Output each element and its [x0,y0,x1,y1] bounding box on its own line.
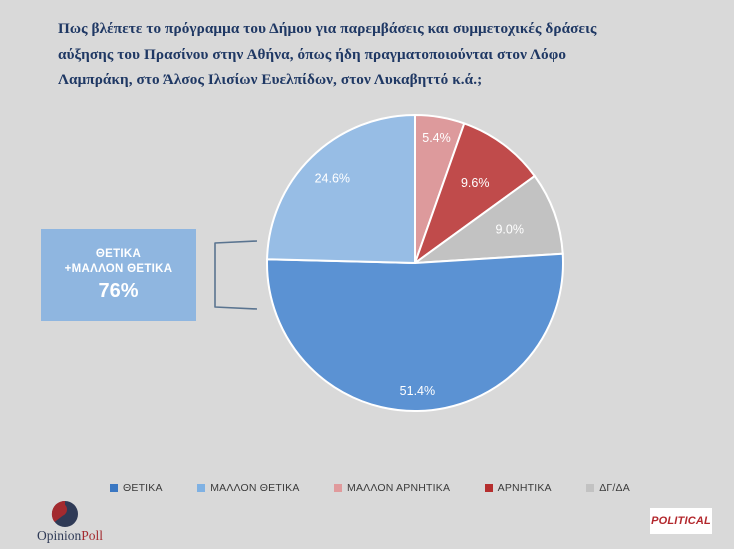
pie-slice-label: 51.4% [400,384,435,398]
bracket-connector-icon [211,239,259,311]
callout-summary-box: ΘΕΤΙΚΑ +ΜΑΛΛΟΝ ΘΕΤΙΚΑ 76% [41,229,196,321]
legend-swatch-icon [110,484,118,492]
pie-slice-label: 9.6% [461,176,490,190]
opinionpoll-word-opinion: Opinion [37,528,81,543]
legend-swatch-icon [334,484,342,492]
legend-swatch-icon [197,484,205,492]
legend-label: ΘΕΤΙΚΑ [123,482,163,494]
pie-chart: 5.4%9.6%9.0%51.4%24.6% [264,112,566,414]
legend-label: ΔΓ/ΔΑ [599,482,630,494]
legend-item-arnitika[interactable]: ΑΡΝΗΤΙΚΑ [485,482,552,494]
title-line-3: Λαμπράκη, στο Άλσος Ιλισίων Ευελπίδων, σ… [58,67,678,93]
pie-slice-label: 9.0% [495,222,523,236]
page-title: Πως βλέπετε το πρόγραμμα του Δήμου για π… [58,16,678,93]
pie-slice-group [267,115,563,411]
legend-label: ΜΑΛΛΟΝ ΑΡΝΗΤΙΚΑ [347,482,450,494]
opinionpoll-mark-icon [50,499,80,529]
legend-item-thetika[interactable]: ΘΕΤΙΚΑ [110,482,163,494]
title-line-1: Πως βλέπετε το πρόγραμμα του Δήμου για π… [58,16,678,42]
title-line-2: αύξησης του Πρασίνου στην Αθήνα, όπως ήδ… [58,42,678,68]
legend-swatch-icon [586,484,594,492]
opinionpoll-logo: OpinionPoll [22,499,118,545]
opinionpoll-word-poll: Poll [81,528,103,543]
political-wordmark: POLITICAL [651,515,711,527]
slide-canvas: Πως βλέπετε το πρόγραμμα του Δήμου για π… [0,0,734,549]
callout-line-1: ΘΕΤΙΚΑ [96,247,141,262]
political-logo: POLITICAL [650,508,712,534]
legend-item-mallon-thetika[interactable]: ΜΑΛΛΟΝ ΘΕΤΙΚΑ [197,482,299,494]
opinionpoll-wordmark: OpinionPoll [22,528,118,544]
legend-item-mallon-arnitika[interactable]: ΜΑΛΛΟΝ ΑΡΝΗΤΙΚΑ [334,482,450,494]
legend-item-dg-da[interactable]: ΔΓ/ΔΑ [586,482,630,494]
legend-swatch-icon [485,484,493,492]
legend-label: ΜΑΛΛΟΝ ΘΕΤΙΚΑ [210,482,299,494]
pie-slice-label: 5.4% [422,131,451,145]
callout-value: 76% [98,278,138,304]
legend-label: ΑΡΝΗΤΙΚΑ [498,482,552,494]
pie-slice-label: 24.6% [315,172,350,186]
callout-line-2: +ΜΑΛΛΟΝ ΘΕΤΙΚΑ [65,262,173,277]
pie-slice[interactable] [267,115,415,263]
chart-legend: ΘΕΤΙΚΑ ΜΑΛΛΟΝ ΘΕΤΙΚΑ ΜΑΛΛΟΝ ΑΡΝΗΤΙΚΑ ΑΡΝ… [110,479,630,497]
